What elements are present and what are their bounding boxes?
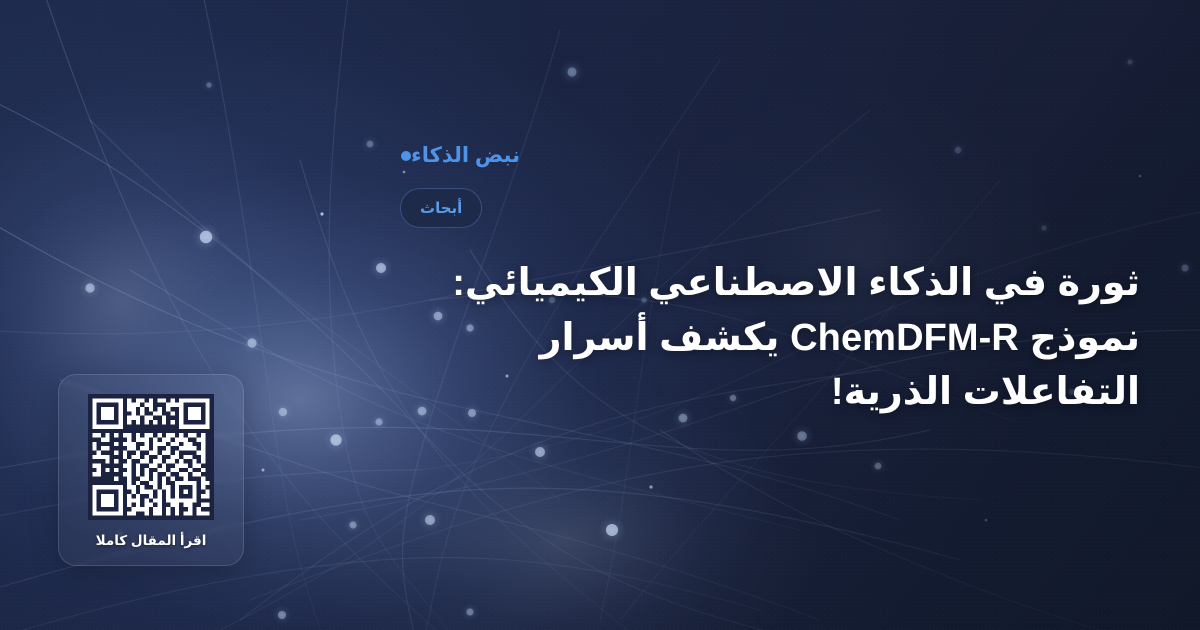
qr-code-icon[interactable]	[88, 394, 214, 520]
page-title: ثورة في الذكاء الاصطناعي الكيميائي: نموذ…	[400, 256, 1140, 420]
qr-card[interactable]: اقرأ المقال كاملا	[58, 374, 244, 566]
brand-dot-icon	[401, 151, 411, 161]
content-column: نبض الذكاء أبحاث ثورة في الذكاء الاصطناع…	[400, 145, 1140, 420]
category-badge[interactable]: أبحاث	[400, 188, 482, 228]
brand-label[interactable]: نبض الذكاء	[400, 145, 520, 166]
brand-name: نبض الذكاء	[411, 145, 520, 166]
qr-caption: اقرأ المقال كاملا	[96, 533, 207, 549]
social-share-card: اقرأ المقال كاملا نبض الذكاء أبحاث ثورة …	[0, 0, 1200, 630]
